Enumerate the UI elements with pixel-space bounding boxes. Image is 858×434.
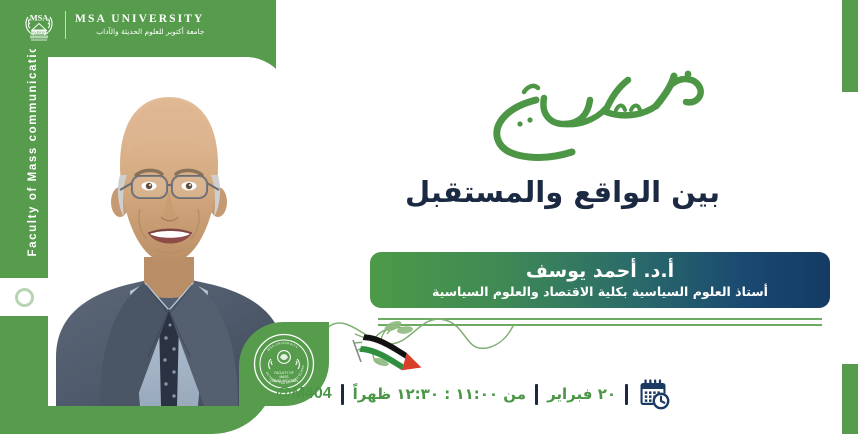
event-footer: ٢٠ فبراير من ١١:٠٠ : ١٢:٣٠ ظهراً @M404 <box>276 368 858 420</box>
speaker-name: أ.د. أحمد يوسف <box>526 261 674 283</box>
footer-separator-3 <box>341 384 344 405</box>
edge-accent-top <box>842 0 858 92</box>
ring-decoration-icon <box>15 288 34 307</box>
university-name-en: MSA UNIVERSITY <box>75 14 204 26</box>
footer-row: ٢٠ فبراير من ١١:٠٠ : ١٢:٣٠ ظهراً @M404 <box>276 377 671 411</box>
event-time: من ١١:٠٠ : ١٢:٣٠ ظهراً <box>353 385 526 403</box>
university-name-block: MSA UNIVERSITY جامعة أكتوبر للعلوم الحدي… <box>75 14 204 36</box>
svg-text:MSA: MSA <box>30 13 49 22</box>
university-name-ar: جامعة أكتوبر للعلوم الحديثة والآداب <box>75 28 204 35</box>
edge-accent-bottom <box>842 364 858 434</box>
footer-separator-2 <box>535 384 538 405</box>
event-date: ٢٠ فبراير <box>547 385 616 403</box>
event-subtitle: بين الواقع والمستقبل <box>300 175 825 209</box>
msa-crest-icon: MSA UNIVERSITY <box>22 8 56 42</box>
footer-separator-1 <box>625 384 628 405</box>
event-poster: MSA UNIVERSITY MSA UNIVERSITY جامعة أكتو… <box>0 0 858 434</box>
faculty-vertical-label: Faculty of Mass communication <box>27 26 39 266</box>
logo-divider <box>65 11 66 39</box>
calligraphy-title <box>420 62 720 170</box>
svg-text:UNIVERSITY: UNIVERSITY <box>28 30 50 34</box>
event-room: @M404 <box>276 385 332 403</box>
university-header-bar: MSA UNIVERSITY MSA UNIVERSITY جامعة أكتو… <box>0 0 276 49</box>
speaker-title: أستاذ العلوم السياسية بكلية الاقتصاد وال… <box>432 284 768 299</box>
ring-notch <box>0 278 48 316</box>
calendar-clock-icon <box>637 377 671 411</box>
msa-logo: MSA UNIVERSITY MSA UNIVERSITY جامعة أكتو… <box>0 8 204 42</box>
